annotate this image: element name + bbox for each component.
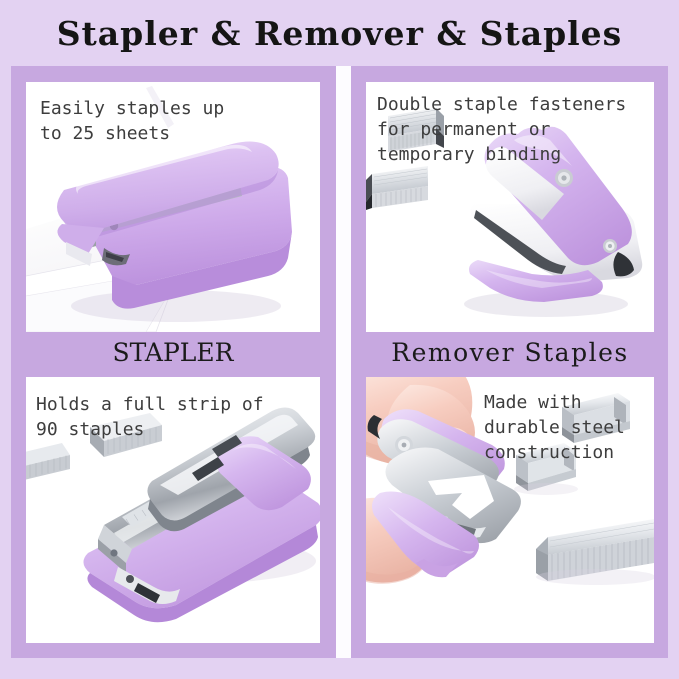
section-label-remover-staples: Remover Staples [366, 338, 654, 367]
caption-bottom-left: Holds a full strip of 90 staples [36, 392, 264, 442]
column-gutter [336, 66, 351, 658]
caption-top-left: Easily staples up to 25 sheets [40, 96, 224, 146]
page-title: Stapler & Remover & Staples [0, 14, 679, 53]
product-infographic: Stapler & Remover & Staples [0, 0, 679, 679]
caption-bottom-right: Made with durable steel construction [484, 390, 625, 465]
caption-top-right: Double staple fasteners for permanent or… [377, 92, 626, 167]
section-label-stapler: STAPLER [26, 338, 320, 367]
